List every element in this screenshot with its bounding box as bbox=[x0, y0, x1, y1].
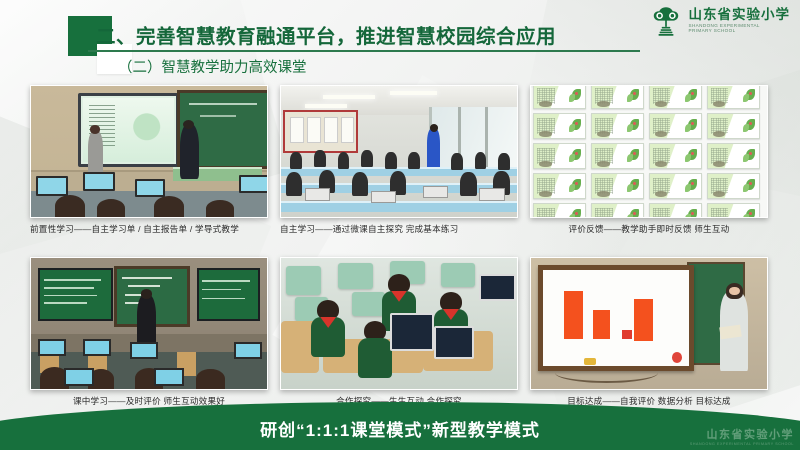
footer-banner: 研创“1:1:1课堂模式”新型教学模式 山东省实验小学 SHANDONG EXP… bbox=[0, 402, 800, 450]
thumbnail bbox=[707, 85, 760, 109]
photo-caption-3: 评价反馈——教学助手即时反馈 师生互动 bbox=[530, 223, 768, 235]
thumbnail bbox=[591, 203, 644, 218]
thumbnail bbox=[649, 113, 702, 139]
photo-2[interactable] bbox=[280, 85, 518, 218]
page-subtitle: （二）智慧教学助力高效课堂 bbox=[118, 56, 307, 77]
thumbnail bbox=[707, 113, 760, 139]
photo-row-top: 前置性学习——自主学习单 / 自主报告单 / 学导式教学 bbox=[30, 85, 770, 235]
photo-cell-5: 合作探究——生生互动 合作探究 bbox=[280, 257, 518, 407]
photo-grid: 前置性学习——自主学习单 / 自主报告单 / 学导式教学 bbox=[30, 85, 770, 407]
thumbnail bbox=[533, 113, 586, 139]
whiteboard-bar-chart bbox=[538, 265, 694, 372]
page-title: 二、完善智慧教育融通平台，推进智慧校园综合应用 bbox=[96, 20, 656, 49]
photo-3[interactable] bbox=[530, 85, 768, 218]
tree-logo-icon bbox=[649, 4, 683, 38]
photo-6[interactable] bbox=[530, 257, 768, 390]
photo-cell-1: 前置性学习——自主学习单 / 自主报告单 / 学导式教学 bbox=[30, 85, 268, 235]
thumbnail bbox=[533, 173, 586, 199]
photo-caption-2: 自主学习——通过微课自主探究 完成基本练习 bbox=[280, 223, 518, 235]
school-name-en-line2: PRIMARY SCHOOL bbox=[689, 29, 791, 34]
thumbnail bbox=[591, 173, 644, 199]
thumbnail bbox=[533, 85, 586, 109]
thumbnail bbox=[707, 173, 760, 199]
photo-cell-3: 评价反馈——教学助手即时反馈 师生互动 bbox=[530, 85, 768, 235]
footer-text: 研创“1:1:1课堂模式”新型教学模式 bbox=[0, 416, 800, 441]
slide: 二、完善智慧教育融通平台，推进智慧校园综合应用 （二）智慧教学助力高效课堂 山东… bbox=[0, 0, 800, 450]
school-logo: 山东省实验小学 SHANDONG EXPERIMENTAL PRIMARY SC… bbox=[649, 4, 791, 38]
thumbnail bbox=[707, 143, 760, 169]
photo-4[interactable] bbox=[30, 257, 268, 390]
photo-caption-1: 前置性学习——自主学习单 / 自主报告单 / 学导式教学 bbox=[30, 223, 268, 235]
thumbnail bbox=[707, 203, 760, 218]
title-underline bbox=[88, 50, 640, 52]
thumbnail bbox=[591, 113, 644, 139]
thumbnail bbox=[649, 85, 702, 109]
watermark-name-en: SHANDONG EXPERIMENTAL PRIMARY SCHOOL bbox=[690, 442, 794, 446]
thumbnail bbox=[649, 173, 702, 199]
photo-cell-4: 课中学习——及时评价 师生互动效果好 bbox=[30, 257, 268, 407]
thumbnail bbox=[533, 203, 586, 218]
student-work-thumbnail-grid bbox=[533, 85, 760, 218]
photo-5[interactable] bbox=[280, 257, 518, 390]
thumbnail bbox=[649, 203, 702, 218]
photo-cell-2: 自主学习——通过微课自主探究 完成基本练习 bbox=[280, 85, 518, 235]
school-name-block: 山东省实验小学 SHANDONG EXPERIMENTAL PRIMARY SC… bbox=[689, 8, 791, 34]
watermark-name-cn: 山东省实验小学 bbox=[690, 426, 794, 442]
thumbnail bbox=[591, 85, 644, 109]
school-name-cn: 山东省实验小学 bbox=[689, 8, 791, 22]
thumbnail bbox=[533, 143, 586, 169]
photo-cell-6: 目标达成——自我评价 数据分析 目标达成 bbox=[530, 257, 768, 407]
footer-watermark: 山东省实验小学 SHANDONG EXPERIMENTAL PRIMARY SC… bbox=[690, 426, 794, 446]
thumbnail bbox=[649, 143, 702, 169]
photo-1[interactable] bbox=[30, 85, 268, 218]
photo-row-bottom: 课中学习——及时评价 师生互动效果好 bbox=[30, 257, 770, 407]
thumbnail bbox=[591, 143, 644, 169]
